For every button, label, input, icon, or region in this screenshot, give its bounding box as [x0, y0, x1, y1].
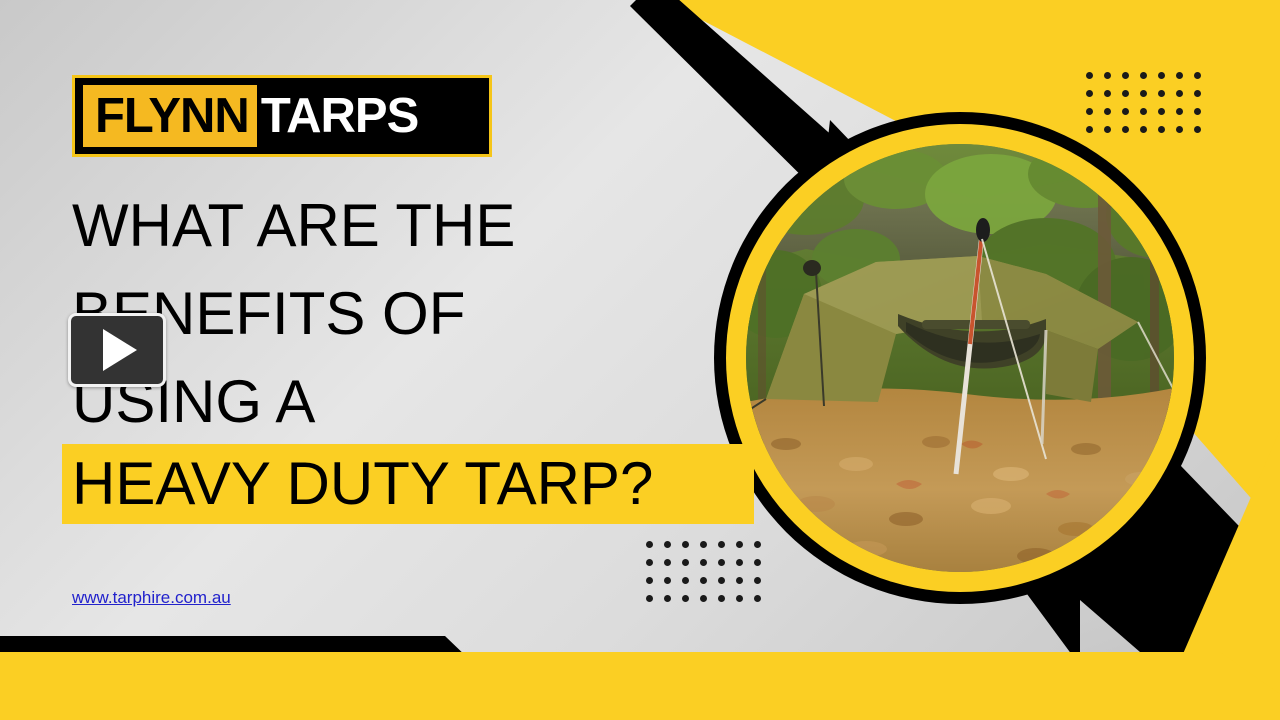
dot	[1176, 90, 1183, 97]
dot	[664, 577, 671, 584]
dot	[754, 559, 761, 566]
dot	[1104, 108, 1111, 115]
dot	[1086, 90, 1093, 97]
dot	[736, 541, 743, 548]
dot	[1086, 72, 1093, 79]
dot	[700, 595, 707, 602]
dot	[646, 541, 653, 548]
website-link[interactable]: www.tarphire.com.au	[72, 588, 231, 608]
dot	[1140, 72, 1147, 79]
flynn-tarps-logo: FLYNN TARPS	[72, 75, 492, 157]
dot	[682, 577, 689, 584]
dot-grid-bottom-center	[646, 541, 772, 613]
dot	[1140, 108, 1147, 115]
dot	[1122, 126, 1129, 133]
dot	[646, 595, 653, 602]
dot	[754, 541, 761, 548]
slide-title-overlay: HEAVY DUTY TARP?	[72, 440, 772, 528]
play-icon	[103, 329, 137, 371]
dot	[718, 541, 725, 548]
presentation-slide: FLYNN TARPS WHAT ARE THE BENEFITS OF USI…	[0, 0, 1280, 720]
dot	[664, 595, 671, 602]
dot	[682, 541, 689, 548]
dot	[754, 595, 761, 602]
dot	[682, 559, 689, 566]
dot	[736, 577, 743, 584]
dot	[1176, 72, 1183, 79]
dot	[1194, 108, 1201, 115]
dot	[664, 559, 671, 566]
dot	[1194, 126, 1201, 133]
logo-text-tarps: TARPS	[257, 87, 418, 145]
dot	[700, 577, 707, 584]
dot	[700, 541, 707, 548]
tarp-shelter-photo	[746, 144, 1174, 572]
dot	[682, 595, 689, 602]
dot	[646, 577, 653, 584]
dot	[754, 577, 761, 584]
dot	[1158, 108, 1165, 115]
tarp-shelter-illustration	[746, 144, 1174, 572]
dot	[1194, 90, 1201, 97]
dot	[1140, 126, 1147, 133]
logo-text-flynn: FLYNN	[83, 85, 257, 147]
dot	[664, 541, 671, 548]
photo-yellow-ring	[726, 124, 1194, 592]
dot	[1158, 126, 1165, 133]
dot-grid-top-right	[1086, 72, 1212, 144]
dot	[1194, 72, 1201, 79]
dot	[1158, 90, 1165, 97]
dot	[1104, 72, 1111, 79]
play-button[interactable]	[68, 313, 166, 387]
photo-outer-ring	[714, 112, 1206, 604]
dot	[1140, 90, 1147, 97]
dot	[1086, 126, 1093, 133]
dot	[1176, 126, 1183, 133]
dot	[700, 559, 707, 566]
dot	[1158, 72, 1165, 79]
dot	[1086, 108, 1093, 115]
dot	[718, 595, 725, 602]
dot	[1122, 108, 1129, 115]
dot	[1104, 90, 1111, 97]
yellow-bottom-bar	[0, 652, 1280, 720]
dot	[736, 559, 743, 566]
dot	[736, 595, 743, 602]
dot	[1122, 72, 1129, 79]
dot	[646, 559, 653, 566]
dot	[1176, 108, 1183, 115]
dot	[1122, 90, 1129, 97]
dot	[718, 559, 725, 566]
dot	[718, 577, 725, 584]
dot	[1104, 126, 1111, 133]
